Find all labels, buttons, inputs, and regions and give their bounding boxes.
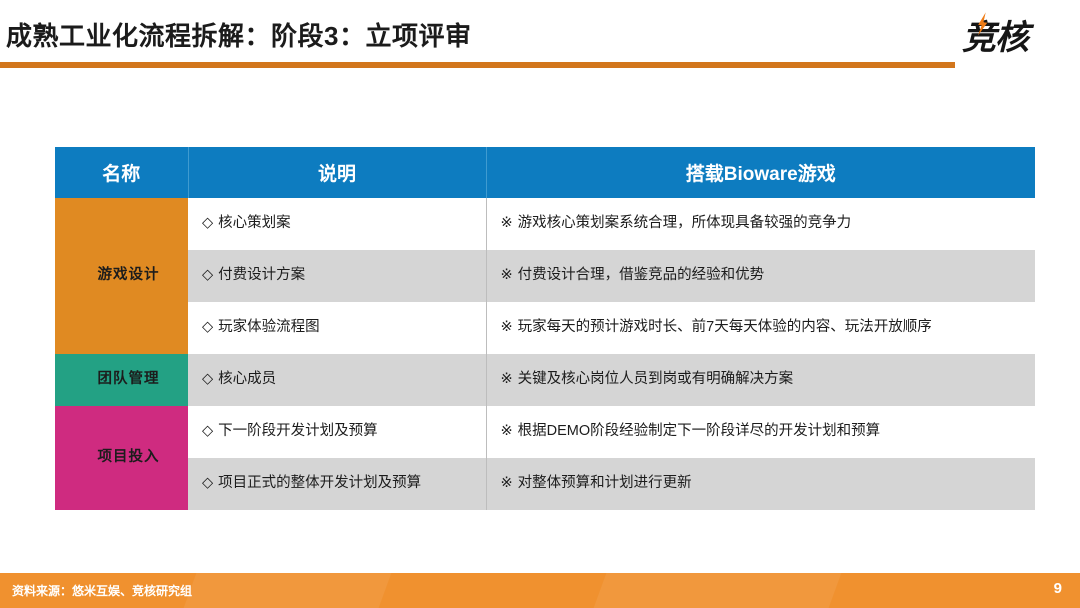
reference-mark-icon: ※	[501, 215, 513, 231]
cell-description-text: 付费设计方案	[218, 267, 305, 283]
table-row: 游戏设计 ◇核心策划案 ※游戏核心策划案系统合理，所体现具备较强的竞争力	[55, 198, 1035, 250]
table-row: ◇玩家体验流程图 ※玩家每天的预计游戏时长、前7天每天体验的内容、玩法开放顺序	[55, 302, 1035, 354]
cell-games-text: 根据DEMO阶段经验制定下一阶段详尽的开发计划和预算	[518, 423, 881, 439]
cell-games-text: 游戏核心策划案系统合理，所体现具备较强的竞争力	[518, 215, 852, 231]
reference-mark-icon: ※	[501, 267, 513, 283]
cell-games-text: 付费设计合理，借鉴竞品的经验和优势	[518, 267, 765, 283]
table-row: ◇付费设计方案 ※付费设计合理，借鉴竞品的经验和优势	[55, 250, 1035, 302]
diamond-icon: ◇	[202, 215, 213, 231]
source-note: 资料来源：悠米互娱、竞核研究组	[12, 582, 192, 599]
cell-games: ※关键及核心岗位人员到岗或有明确解决方案	[486, 354, 1035, 406]
column-header-games: 搭载Bioware游戏	[486, 147, 1035, 198]
header-divider-rule	[0, 62, 955, 68]
group-label-team: 团队管理	[55, 354, 188, 406]
cell-games: ※付费设计合理，借鉴竞品的经验和优势	[486, 250, 1035, 302]
reference-mark-icon: ※	[501, 475, 513, 491]
page-title: 成熟工业化流程拆解：阶段3：立项评审	[6, 16, 471, 53]
table-body: 游戏设计 ◇核心策划案 ※游戏核心策划案系统合理，所体现具备较强的竞争力 ◇付费…	[55, 198, 1035, 510]
cell-description: ◇项目正式的整体开发计划及预算	[188, 458, 486, 510]
slide-header: 成熟工业化流程拆解：阶段3：立项评审 竞核	[0, 0, 1080, 72]
footer-shade-decoration	[184, 573, 392, 608]
table-header-row: 名称 说明 搭载Bioware游戏	[55, 147, 1035, 198]
cell-games: ※玩家每天的预计游戏时长、前7天每天体验的内容、玩法开放顺序	[486, 302, 1035, 354]
cell-description-text: 核心策划案	[218, 215, 291, 231]
slide-footer: 资料来源：悠米互娱、竞核研究组 9	[0, 573, 1080, 608]
cell-games-text: 玩家每天的预计游戏时长、前7天每天体验的内容、玩法开放顺序	[518, 319, 932, 335]
criteria-table-container: 名称 说明 搭载Bioware游戏 游戏设计 ◇核心策划案 ※游戏核心策划案系统…	[55, 147, 1035, 514]
table-row: 项目投入 ◇下一阶段开发计划及预算 ※根据DEMO阶段经验制定下一阶段详尽的开发…	[55, 406, 1035, 458]
cell-games-text: 关键及核心岗位人员到岗或有明确解决方案	[518, 371, 794, 387]
column-header-description: 说明	[188, 147, 486, 198]
table-row: 团队管理 ◇核心成员 ※关键及核心岗位人员到岗或有明确解决方案	[55, 354, 1035, 406]
cell-description-text: 下一阶段开发计划及预算	[218, 423, 378, 439]
cell-description: ◇核心策划案	[188, 198, 486, 250]
cell-description-text: 项目正式的整体开发计划及预算	[218, 475, 421, 491]
diamond-icon: ◇	[202, 371, 213, 387]
cell-games: ※游戏核心策划案系统合理，所体现具备较强的竞争力	[486, 198, 1035, 250]
cell-games-text: 对整体预算和计划进行更新	[518, 475, 692, 491]
footer-shade-decoration	[594, 573, 842, 608]
cell-description: ◇付费设计方案	[188, 250, 486, 302]
diamond-icon: ◇	[202, 423, 213, 439]
page-number: 9	[1054, 580, 1062, 597]
group-label-investment: 项目投入	[55, 406, 188, 510]
cell-games: ※根据DEMO阶段经验制定下一阶段详尽的开发计划和预算	[486, 406, 1035, 458]
table-row: ◇项目正式的整体开发计划及预算 ※对整体预算和计划进行更新	[55, 458, 1035, 510]
cell-description-text: 玩家体验流程图	[218, 319, 320, 335]
cell-description: ◇下一阶段开发计划及预算	[188, 406, 486, 458]
cell-games: ※对整体预算和计划进行更新	[486, 458, 1035, 510]
column-header-name: 名称	[55, 147, 188, 198]
diamond-icon: ◇	[202, 319, 213, 335]
cell-description-text: 核心成员	[218, 371, 276, 387]
brand-logo-text: 竞核	[962, 16, 1028, 60]
criteria-table: 名称 说明 搭载Bioware游戏 游戏设计 ◇核心策划案 ※游戏核心策划案系统…	[55, 147, 1035, 510]
diamond-icon: ◇	[202, 267, 213, 283]
brand-logo: 竞核	[962, 12, 1072, 64]
reference-mark-icon: ※	[501, 319, 513, 335]
reference-mark-icon: ※	[501, 423, 513, 439]
reference-mark-icon: ※	[501, 371, 513, 387]
diamond-icon: ◇	[202, 475, 213, 491]
cell-description: ◇玩家体验流程图	[188, 302, 486, 354]
group-label-design: 游戏设计	[55, 198, 188, 354]
cell-description: ◇核心成员	[188, 354, 486, 406]
